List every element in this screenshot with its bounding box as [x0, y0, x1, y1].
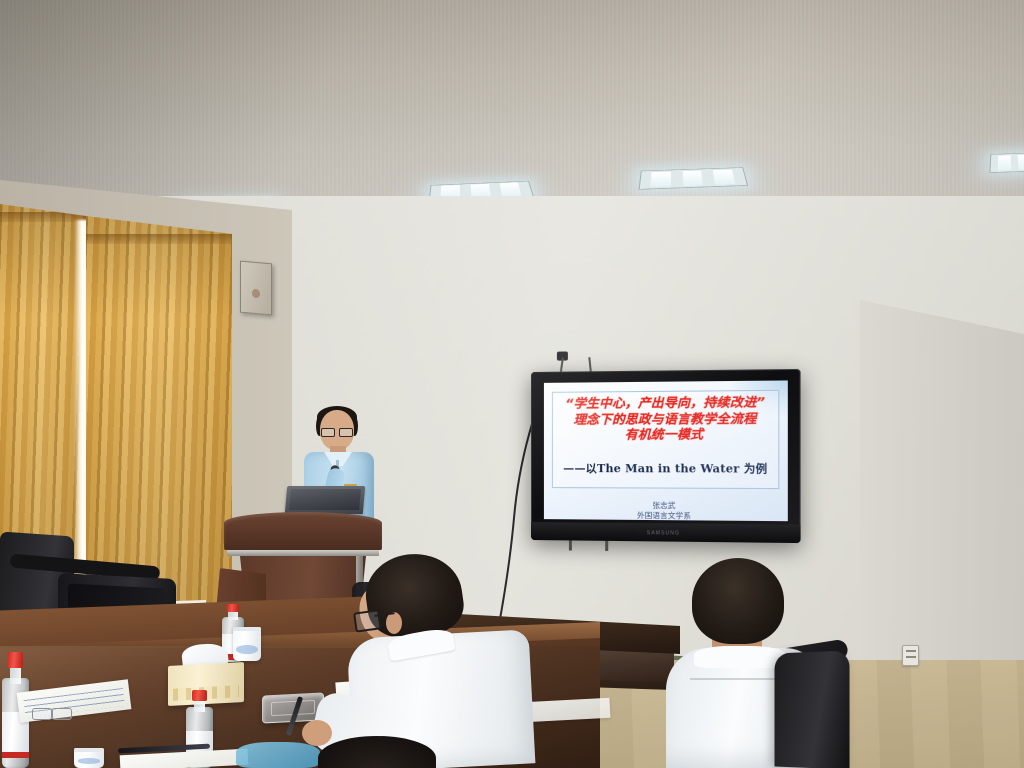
slide-author-department: 外国语言文学系	[544, 510, 788, 521]
bottle-neck	[228, 611, 238, 620]
slide-title-line-1: “学生中心，产出导向，持续改进”	[554, 394, 777, 411]
bottle-cap	[227, 604, 239, 612]
slide-subtitle: ——以The Man in the Water 为例	[554, 460, 777, 477]
bottle-cap	[8, 652, 23, 668]
tv-bottom-bezel: SAMSUNG	[531, 522, 801, 543]
attendee-hand	[302, 720, 332, 746]
glasses-icon	[321, 428, 353, 435]
paper-cup[interactable]	[74, 748, 104, 768]
ceiling-light-4	[989, 152, 1024, 173]
bottle-cap	[192, 690, 207, 701]
bottle-neck	[194, 699, 206, 711]
podium-top	[224, 512, 382, 550]
tv-mount-bottom	[561, 540, 622, 551]
presentation-screen[interactable]: “学生中心，产出导向，持续改进” 理念下的思政与语言教学全流程 有机统一模式 —…	[531, 369, 801, 543]
laptop-icon[interactable]	[285, 486, 365, 514]
chair-right[interactable]	[774, 650, 849, 768]
wall-speaker-icon	[240, 261, 272, 316]
slide-title: “学生中心，产出导向，持续改进” 理念下的思政与语言教学全流程 有机统一模式	[554, 394, 777, 442]
glasses-icon[interactable]	[32, 706, 84, 720]
bottle-neck	[10, 666, 22, 685]
tv-mount-top	[555, 357, 603, 372]
slide-author-block: 张志武 外国语言文学系	[544, 500, 788, 521]
slide-content: “学生中心，产出导向，持续改进” 理念下的思政与语言教学全流程 有机统一模式 —…	[544, 380, 788, 521]
blue-folder[interactable]	[236, 742, 320, 768]
meeting-room-photo: “学生中心，产出导向，持续改进” 理念下的思政与语言教学全流程 有机统一模式 —…	[0, 0, 1024, 768]
slide-title-line-3: 有机统一模式	[554, 426, 777, 442]
right-wall	[860, 300, 1024, 680]
tv-brand-label: SAMSUNG	[647, 530, 680, 536]
slide-title-line-2: 理念下的思政与语言教学全流程	[554, 410, 777, 427]
power-outlet-icon	[902, 645, 919, 666]
paper-cup[interactable]	[233, 627, 261, 661]
attendee-hair	[692, 558, 784, 644]
seated-attendee-left	[336, 548, 548, 768]
attendee-collar	[694, 646, 786, 668]
